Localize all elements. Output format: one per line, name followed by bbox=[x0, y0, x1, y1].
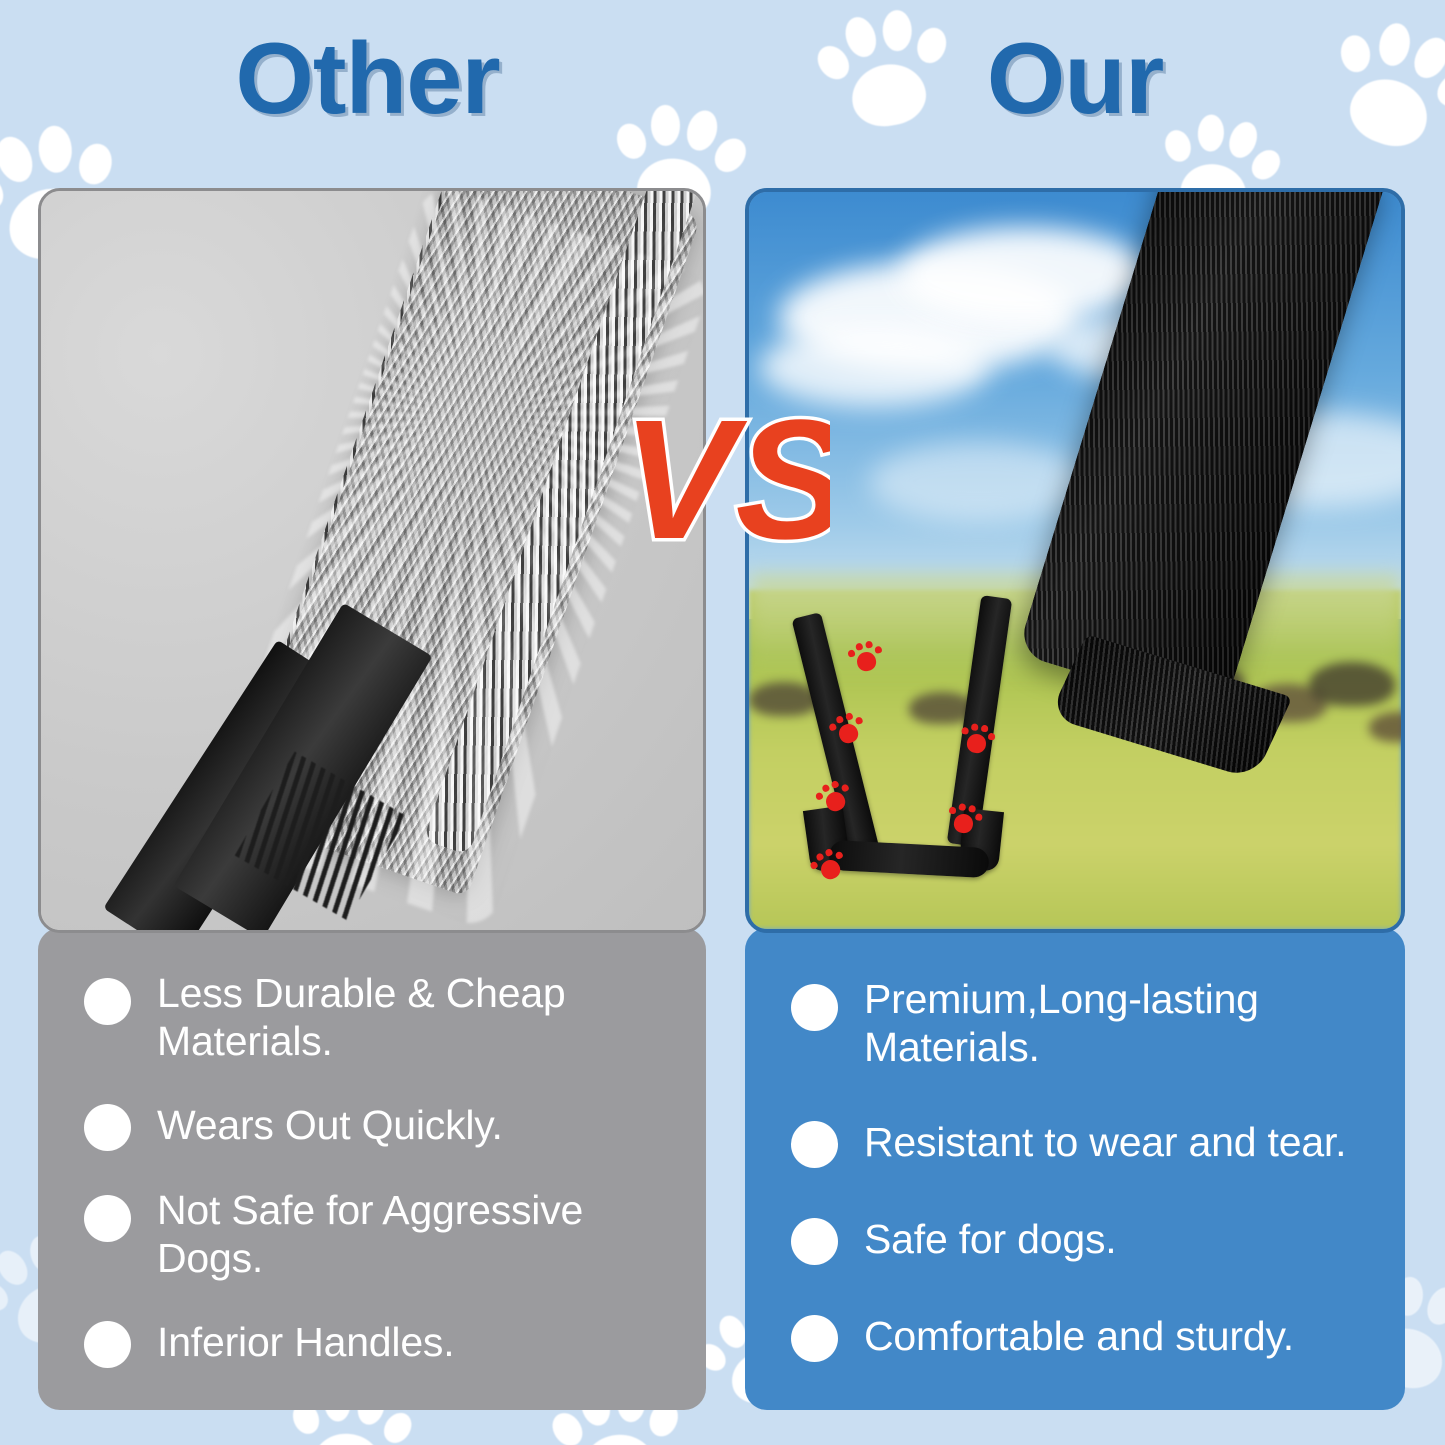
comparison-column-our: Premium,Long-lasting Materials. Resistan… bbox=[745, 188, 1405, 1410]
bullet-label: Comfortable and sturdy. bbox=[864, 1313, 1294, 1361]
list-item: Inferior Handles. bbox=[84, 1319, 672, 1368]
bullet-label: Wears Out Quickly. bbox=[157, 1102, 503, 1150]
comparison-column-other: Less Durable & Cheap Materials. Wears Ou… bbox=[38, 188, 706, 1410]
list-item: Wears Out Quickly. bbox=[84, 1102, 672, 1151]
bullet-label: Resistant to wear and tear. bbox=[864, 1119, 1346, 1167]
bullet-dot-icon bbox=[791, 984, 838, 1031]
bullet-dot-icon bbox=[84, 1321, 131, 1368]
page-title-our: Our bbox=[745, 26, 1405, 132]
bullet-dot-icon bbox=[84, 978, 131, 1025]
bullet-dot-icon bbox=[791, 1218, 838, 1265]
paw-print-icon bbox=[855, 650, 878, 673]
infographic-canvas: Other Our Less Durable & Cheap Materials… bbox=[0, 0, 1445, 1445]
bullet-label: Safe for dogs. bbox=[864, 1216, 1116, 1264]
list-item: Resistant to wear and tear. bbox=[791, 1119, 1371, 1168]
bullet-label: Inferior Handles. bbox=[157, 1319, 454, 1367]
bullet-list-other: Less Durable & Cheap Materials. Wears Ou… bbox=[38, 928, 706, 1410]
bullet-dot-icon bbox=[791, 1315, 838, 1362]
list-item: Premium,Long-lasting Materials. bbox=[791, 976, 1371, 1071]
product-photo-our bbox=[745, 188, 1405, 933]
bullet-dot-icon bbox=[791, 1121, 838, 1168]
page-title-other: Other bbox=[30, 26, 705, 132]
list-item: Comfortable and sturdy. bbox=[791, 1313, 1371, 1362]
list-item: Safe for dogs. bbox=[791, 1216, 1371, 1265]
bullet-dot-icon bbox=[84, 1195, 131, 1242]
bullet-label: Less Durable & Cheap Materials. bbox=[157, 970, 672, 1065]
list-item: Less Durable & Cheap Materials. bbox=[84, 970, 672, 1065]
bullet-list-our: Premium,Long-lasting Materials. Resistan… bbox=[745, 928, 1405, 1410]
bullet-dot-icon bbox=[84, 1104, 131, 1151]
product-photo-other bbox=[38, 188, 706, 933]
bullet-label: Premium,Long-lasting Materials. bbox=[864, 976, 1371, 1071]
bullet-label: Not Safe for Aggressive Dogs. bbox=[157, 1187, 672, 1282]
list-item: Not Safe for Aggressive Dogs. bbox=[84, 1187, 672, 1282]
